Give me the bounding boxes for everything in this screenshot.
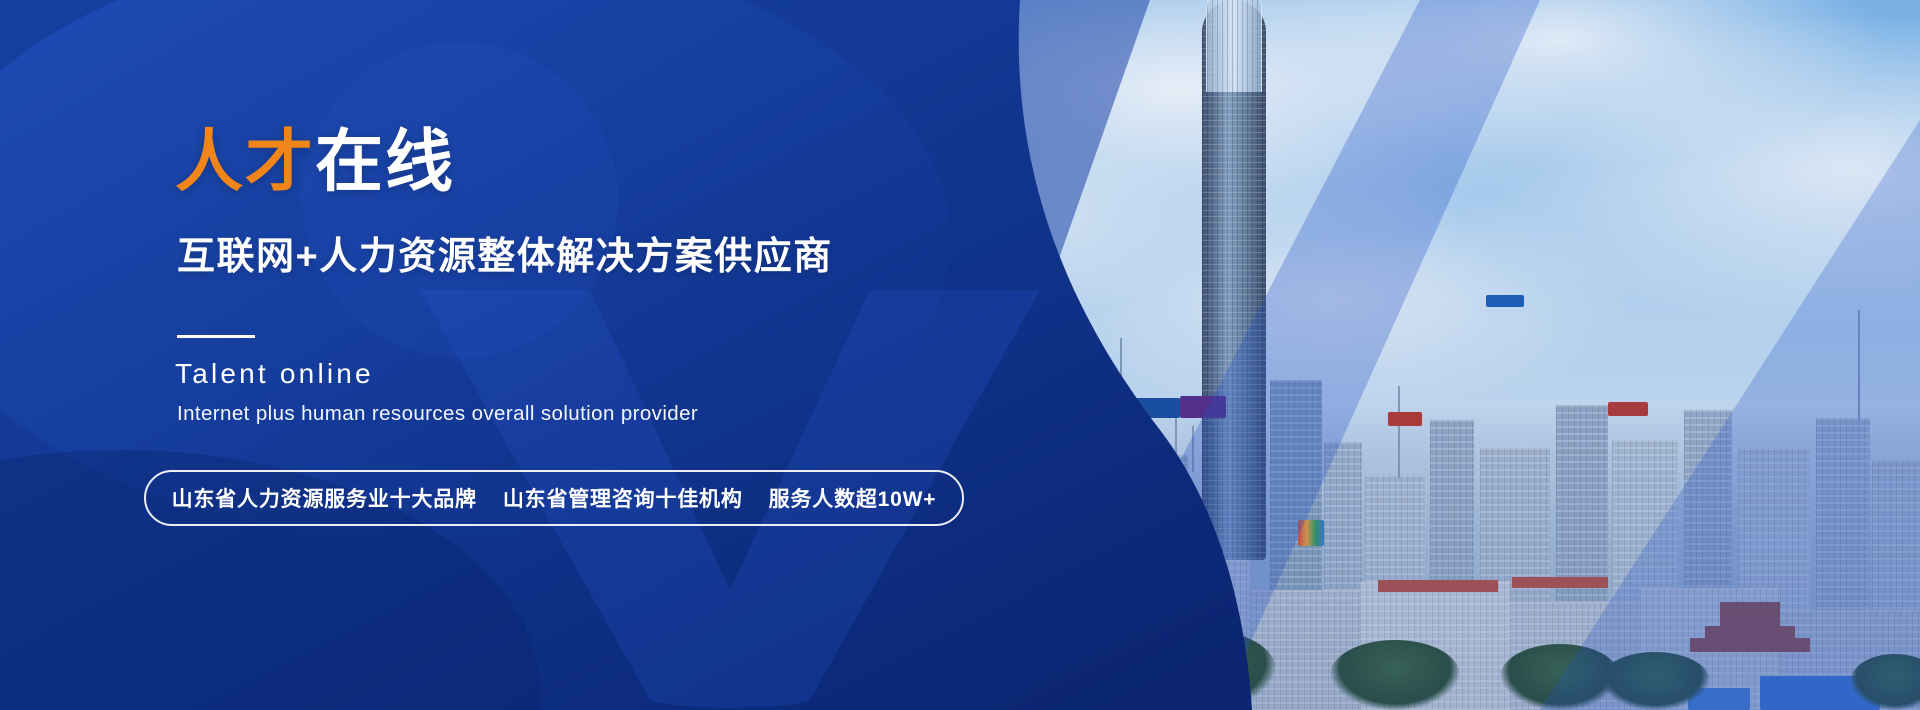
badge-item-brand: 山东省人力资源服务业十大品牌: [172, 483, 477, 513]
hero-banner: 人才在线 互联网+人力资源整体解决方案供应商 Talent online Int…: [0, 0, 1920, 710]
english-title: Talent online: [175, 358, 374, 390]
title-accent: 人才: [175, 124, 315, 200]
subtitle: 互联网+人力资源整体解决方案供应商: [177, 238, 833, 276]
badge-item-consulting: 山东省管理咨询十佳机构: [503, 483, 743, 513]
credentials-badge: 山东省人力资源服务业十大品牌 山东省管理咨询十佳机构 服务人数超10W+: [144, 470, 964, 526]
banner-content: 人才在线 互联网+人力资源整体解决方案供应商 Talent online Int…: [175, 0, 1175, 710]
badge-item-users: 服务人数超10W+: [769, 483, 937, 513]
english-subtitle: Internet plus human resources overall so…: [177, 402, 698, 426]
title-plain: 在线: [315, 124, 455, 200]
divider-rule: [177, 335, 255, 338]
page-title: 人才在线: [175, 128, 455, 196]
